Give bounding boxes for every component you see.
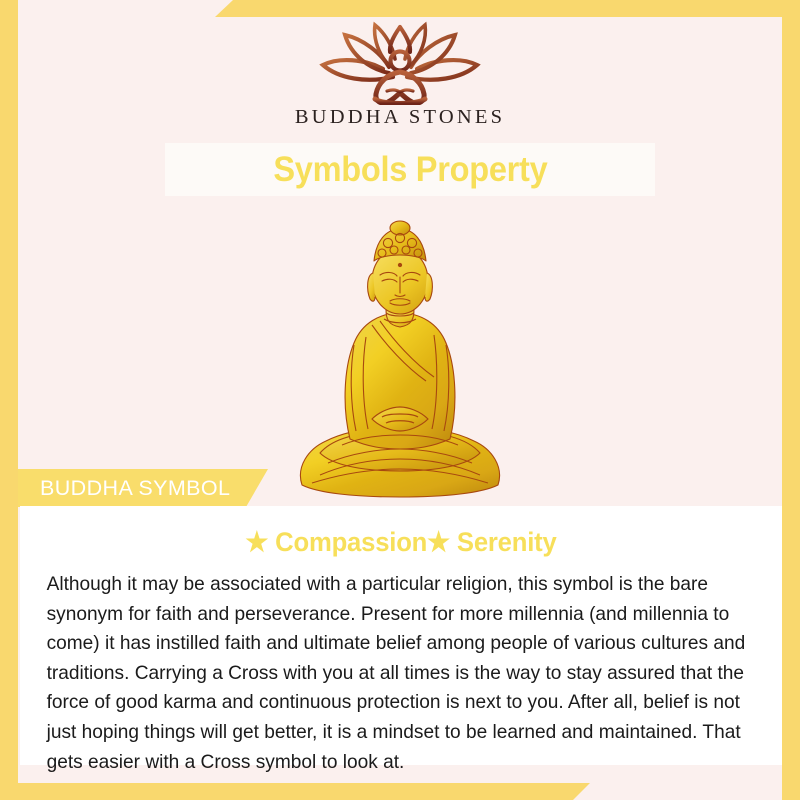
description-body: Although it may be associated with a par… xyxy=(20,570,771,777)
golden-buddha-statue-illustration xyxy=(276,217,524,502)
frame-band-right xyxy=(782,0,800,800)
frame-band-left xyxy=(0,0,18,800)
poster-canvas: BUDDHA STONES Symbols Property xyxy=(0,0,800,800)
description-heading: ★ Compassion★ Serenity xyxy=(39,527,763,558)
brand-name: BUDDHA STONES xyxy=(295,106,505,129)
description-card: ★ Compassion★ Serenity Although it may b… xyxy=(20,506,782,765)
buddha-symbol-tag: BUDDHA SYMBOL xyxy=(18,469,268,507)
buddha-symbol-tag-label: BUDDHA SYMBOL xyxy=(40,476,230,501)
brand-logo: BUDDHA STONES xyxy=(18,21,782,147)
frame-band-top xyxy=(215,0,800,17)
hero-image-container xyxy=(18,202,782,502)
page-title: Symbols Property xyxy=(273,150,547,190)
title-banner: Symbols Property xyxy=(165,143,655,196)
lotus-meditation-icon xyxy=(305,21,495,105)
page-body: BUDDHA STONES Symbols Property xyxy=(18,17,782,783)
